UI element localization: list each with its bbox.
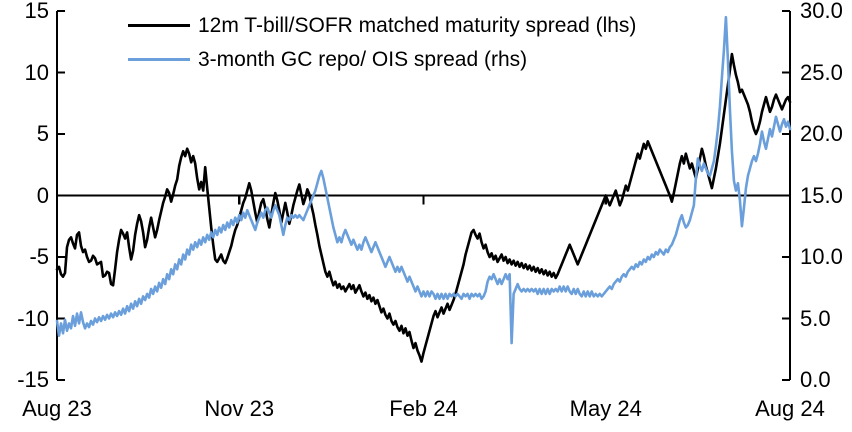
series-line-tbill-sofr [57,54,790,362]
x-axis-tick-label: Nov 23 [179,398,299,420]
x-axis-tick-label: Aug 24 [730,398,850,420]
chart-container: 12m T-bill/SOFR matched maturity spread … [0,0,852,432]
x-axis-tick-label: Feb 24 [364,398,484,420]
legend-item-gc-repo-ois: 3-month GC repo/ OIS spread (rhs) [128,42,636,76]
right-axis-tick-label: 20.0 [800,123,843,145]
right-axis-tick-label: 30.0 [800,0,843,22]
legend-item-tbill-sofr: 12m T-bill/SOFR matched maturity spread … [128,8,636,42]
left-axis-tick-label: -15 [17,369,49,391]
legend-label-gc-repo-ois: 3-month GC repo/ OIS spread (rhs) [198,49,527,70]
right-axis-tick-label: 0.0 [800,369,831,391]
right-axis-tick-label: 15.0 [800,185,843,207]
right-axis-tick-label: 5.0 [800,308,831,330]
left-axis-tick-label: 0 [37,185,49,207]
x-axis-tick-label: Aug 23 [0,398,117,420]
legend-swatch-tbill-sofr [128,24,190,27]
chart-legend: 12m T-bill/SOFR matched maturity spread … [128,8,636,76]
legend-label-tbill-sofr: 12m T-bill/SOFR matched maturity spread … [198,15,636,36]
right-axis-tick-label: 25.0 [800,62,843,84]
left-axis-tick-label: -10 [17,308,49,330]
left-axis-tick-label: -5 [29,246,49,268]
x-axis-tick-label: May 24 [546,398,666,420]
left-axis-tick-label: 15 [25,0,49,22]
right-axis-tick-label: 10.0 [800,246,843,268]
left-axis-tick-label: 10 [25,62,49,84]
legend-swatch-gc-repo-ois [128,58,190,61]
left-axis-tick-label: 5 [37,123,49,145]
